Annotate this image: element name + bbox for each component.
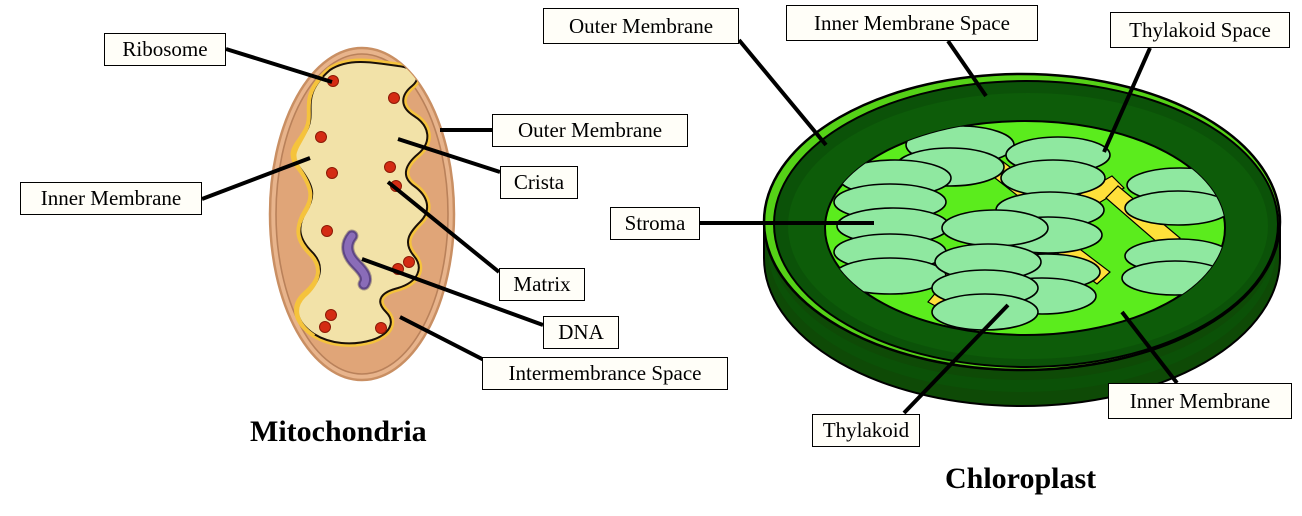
mitochondria-ribosome-dot (326, 310, 337, 321)
label-thylakoid-text: Thylakoid (823, 420, 909, 441)
diagram-canvas: Ribosome Inner Membrane Outer Membrane C… (0, 0, 1302, 516)
mitochondria-title: Mitochondria (250, 415, 427, 449)
label-ribosome[interactable]: Ribosome (104, 33, 226, 66)
chloroplast-thylakoid (942, 210, 1048, 246)
organelle-diagram-svg (0, 0, 1302, 516)
label-mito-outer-membrane-text: Outer Membrane (518, 120, 662, 141)
chloroplast-thylakoid (1001, 160, 1105, 196)
label-chloro-inner-membrane[interactable]: Inner Membrane (1108, 383, 1292, 419)
label-thylakoid[interactable]: Thylakoid (812, 414, 920, 447)
label-stroma[interactable]: Stroma (610, 207, 700, 240)
label-stroma-text: Stroma (625, 213, 686, 234)
label-dna[interactable]: DNA (543, 316, 619, 349)
chloroplast-thylakoid-space (932, 294, 1038, 330)
leader-ribosome (226, 49, 332, 82)
label-mito-inner-membrane-text: Inner Membrane (41, 188, 182, 209)
mitochondria-ribosome-dot (404, 257, 415, 268)
chloroplast-thylakoid (1125, 191, 1231, 225)
label-crista[interactable]: Crista (500, 166, 578, 199)
label-chloro-inner-membrane-text: Inner Membrane (1130, 391, 1271, 412)
label-intermembrance-space-text: Intermembrance Space (509, 363, 702, 384)
mitochondria-ribosome-dot (322, 226, 333, 237)
label-chloro-outer-membrane-text: Outer Membrane (569, 16, 713, 37)
chloroplast-title: Chloroplast (945, 462, 1096, 496)
chloroplast-figure (764, 74, 1280, 406)
label-inner-membrane-space[interactable]: Inner Membrane Space (786, 5, 1038, 41)
label-crista-text: Crista (514, 172, 564, 193)
label-matrix[interactable]: Matrix (499, 268, 585, 301)
mitochondria-ribosome-dot (316, 132, 327, 143)
label-inner-membrane-space-text: Inner Membrane Space (814, 13, 1010, 34)
label-intermembrance-space[interactable]: Intermembrance Space (482, 357, 728, 390)
mitochondria-ribosome-dot (327, 168, 338, 179)
label-thylakoid-space[interactable]: Thylakoid Space (1110, 12, 1290, 48)
label-dna-text: DNA (558, 322, 604, 343)
leader-chloro-outer-membrane (739, 40, 826, 145)
mitochondria-ribosome-dot (320, 322, 331, 333)
label-thylakoid-space-text: Thylakoid Space (1129, 20, 1271, 41)
label-mito-outer-membrane[interactable]: Outer Membrane (492, 114, 688, 147)
label-ribosome-text: Ribosome (122, 39, 207, 60)
mitochondria-ribosome-dot (389, 93, 400, 104)
label-chloro-outer-membrane[interactable]: Outer Membrane (543, 8, 739, 44)
mitochondria-ribosome-dot (385, 162, 396, 173)
label-matrix-text: Matrix (513, 274, 570, 295)
label-mito-inner-membrane[interactable]: Inner Membrane (20, 182, 202, 215)
mitochondria-ribosome-dot (376, 323, 387, 334)
